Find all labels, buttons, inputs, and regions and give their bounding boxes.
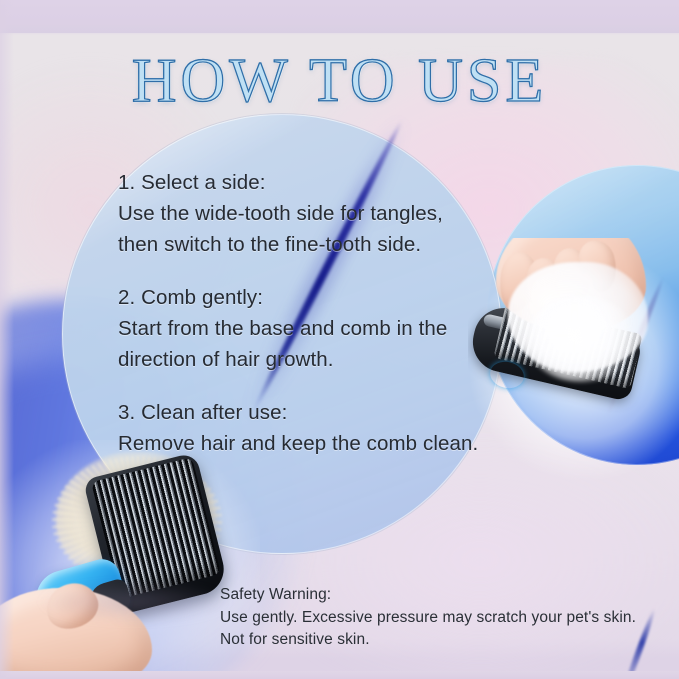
- step-3-line-1: Remove hair and keep the comb clean.: [118, 428, 538, 459]
- photo-drop-shadow: [40, 582, 230, 622]
- step-2-line-1: Start from the base and comb in the: [118, 313, 538, 344]
- step-3-heading: 3. Clean after use:: [118, 397, 538, 428]
- step-1-heading: 1. Select a side:: [118, 167, 538, 198]
- pet-fur-clump: [526, 296, 636, 382]
- photo-hand-holding-comb: [0, 448, 240, 679]
- step-2-line-2: direction of hair growth.: [118, 344, 538, 375]
- step-2: 2. Comb gently: Start from the base and …: [118, 282, 538, 375]
- step-3: 3. Clean after use: Remove hair and keep…: [118, 397, 538, 459]
- step-1-line-1: Use the wide-tooth side for tangles,: [118, 198, 538, 229]
- top-lavender-band: [0, 0, 679, 33]
- safety-warning: Safety Warning: Use gently. Excessive pr…: [220, 584, 670, 652]
- safety-heading: Safety Warning:: [220, 584, 670, 607]
- page-title: HOW TO USE: [0, 46, 679, 117]
- left-edge-shade: [0, 0, 14, 679]
- step-1: 1. Select a side: Use the wide-tooth sid…: [118, 167, 538, 260]
- step-1-line-2: then switch to the fine-tooth side.: [118, 229, 538, 260]
- safety-line-1: Use gently. Excessive pressure may scrat…: [220, 607, 670, 630]
- step-2-heading: 2. Comb gently:: [118, 282, 538, 313]
- safety-line-2: Not for sensitive skin.: [220, 629, 670, 652]
- how-to-use-poster: HOW TO USE 1. Select a side: Use the wid…: [0, 0, 679, 679]
- instruction-steps: 1. Select a side: Use the wide-tooth sid…: [118, 167, 538, 459]
- bottom-lavender-band: [0, 671, 679, 679]
